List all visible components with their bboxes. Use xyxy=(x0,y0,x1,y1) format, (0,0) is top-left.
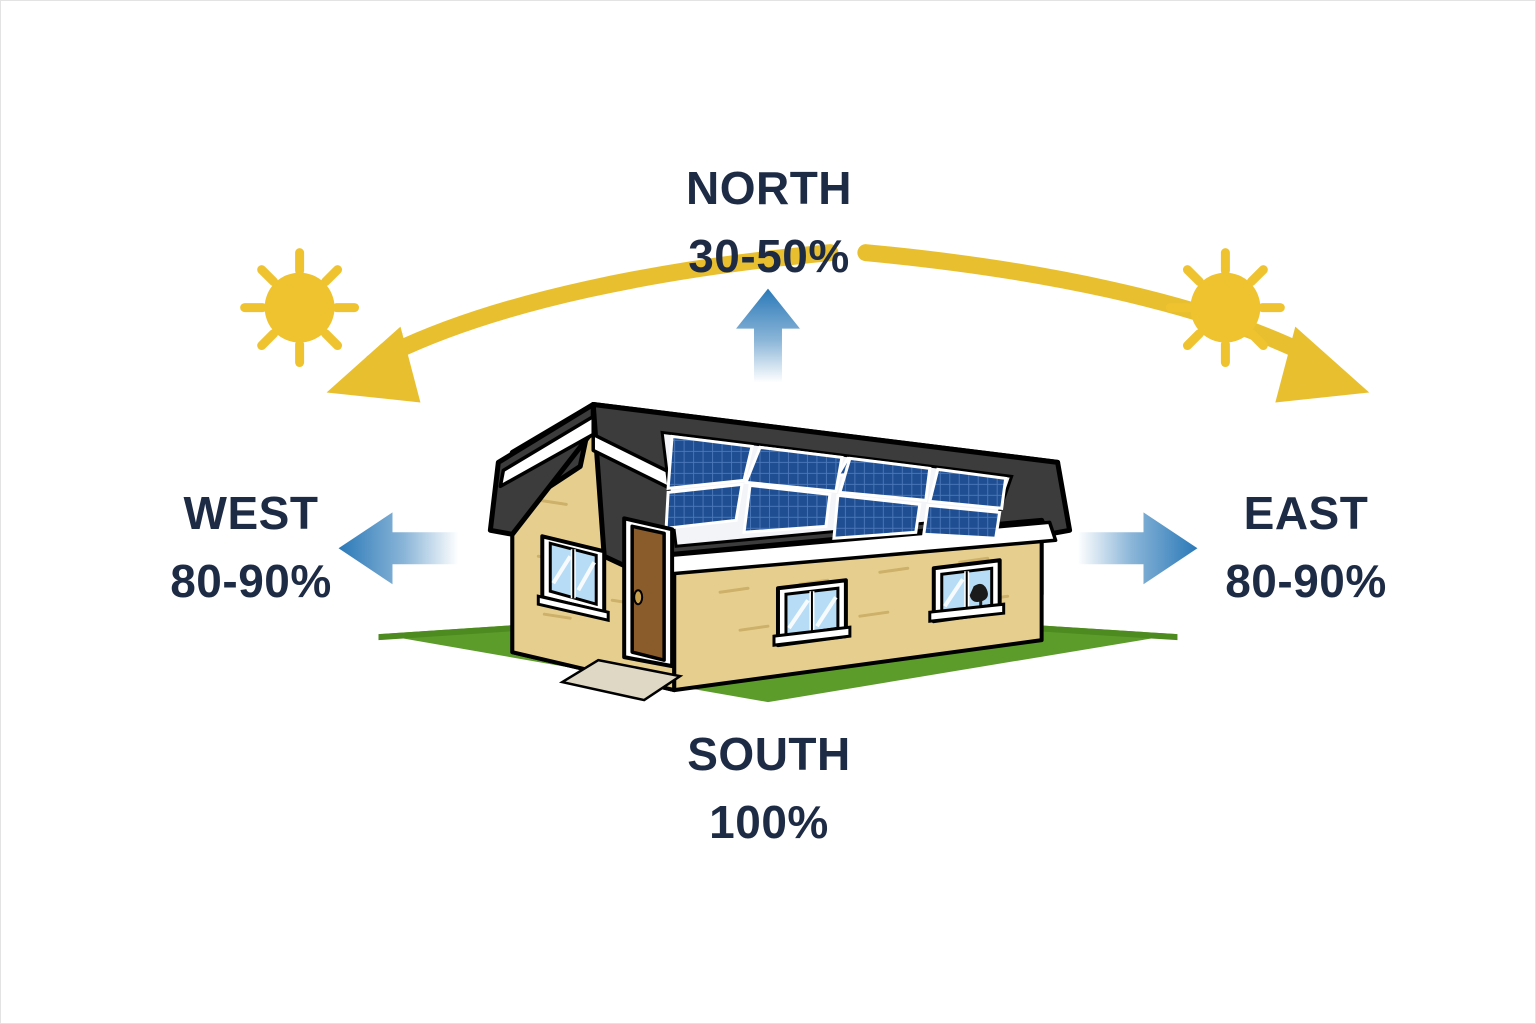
window xyxy=(930,560,1004,621)
sun-icon xyxy=(1170,253,1280,363)
window xyxy=(538,536,608,620)
diagram-canvas: NORTH 30-50% EAST 80-90% SOUTH 100% WEST… xyxy=(0,0,1536,1024)
direction-name-north: NORTH xyxy=(619,161,919,215)
direction-efficiency-north: 30-50% xyxy=(619,229,919,283)
direction-label-south: SOUTH 100% xyxy=(639,727,899,850)
window xyxy=(774,580,850,645)
direction-label-west: WEST 80-90% xyxy=(121,486,381,609)
direction-efficiency-south: 100% xyxy=(639,795,899,849)
door xyxy=(624,518,672,666)
sun-icon xyxy=(245,253,355,363)
direction-efficiency-west: 80-90% xyxy=(121,554,381,608)
direction-name-east: EAST xyxy=(1161,486,1451,540)
arrow-up-icon xyxy=(736,289,800,383)
direction-efficiency-east: 80-90% xyxy=(1161,554,1451,608)
direction-name-west: WEST xyxy=(121,486,381,540)
direction-name-south: SOUTH xyxy=(639,727,899,781)
direction-label-north: NORTH 30-50% xyxy=(619,161,919,284)
direction-label-east: EAST 80-90% xyxy=(1161,486,1451,609)
sun-path-arrow-right xyxy=(866,253,1369,403)
